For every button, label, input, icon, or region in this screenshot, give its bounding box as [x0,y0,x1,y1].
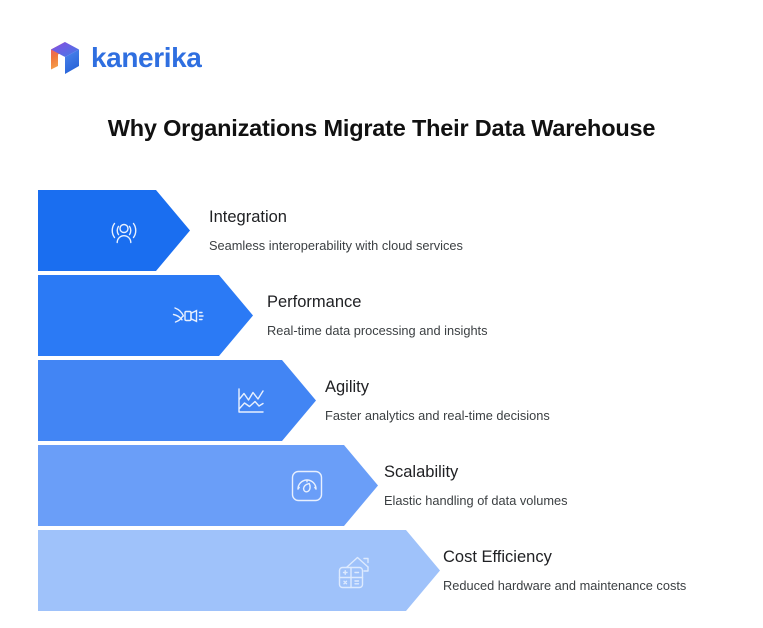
row-text: Agility Faster analytics and real-time d… [325,360,550,441]
brand-logo[interactable]: kanerika [48,40,201,76]
rocket-speed-icon [165,275,211,356]
row-text: Scalability Elastic handling of data vol… [384,445,568,526]
funnel-row: Cost Efficiency Reduced hardware and mai… [0,530,763,611]
row-description: Reduced hardware and maintenance costs [443,578,686,593]
cube-logo-icon [48,40,82,76]
funnel-row: Performance Real-time data processing an… [0,275,763,356]
brand-wordmark: kanerika [91,44,201,72]
row-title: Cost Efficiency [443,548,686,568]
funnel-row: Agility Faster analytics and real-time d… [0,360,763,441]
funnel-row: Integration Seamless interoperability wi… [0,190,763,271]
row-description: Seamless interoperability with cloud ser… [209,238,463,253]
row-description: Elastic handling of data volumes [384,493,568,508]
row-text: Integration Seamless interoperability wi… [209,190,463,271]
page-title: Why Organizations Migrate Their Data War… [0,115,763,142]
chevron-bar [38,360,316,441]
calculator-house-icon [329,530,379,611]
chevron-bar [38,275,253,356]
row-title: Performance [267,293,488,313]
row-description: Real-time data processing and insights [267,323,488,338]
row-text: Cost Efficiency Reduced hardware and mai… [443,530,686,611]
row-title: Agility [325,378,550,398]
row-text: Performance Real-time data processing an… [267,275,488,356]
infographic-canvas: kanerika Why Organizations Migrate Their… [0,0,763,628]
row-title: Integration [209,208,463,228]
user-broadcast-icon [101,190,147,271]
line-chart-icon [228,360,274,441]
row-description: Faster analytics and real-time decisions [325,408,550,423]
gauge-meter-icon [284,445,330,526]
funnel-row: Scalability Elastic handling of data vol… [0,445,763,526]
chevron-bar [38,530,440,611]
row-title: Scalability [384,463,568,483]
